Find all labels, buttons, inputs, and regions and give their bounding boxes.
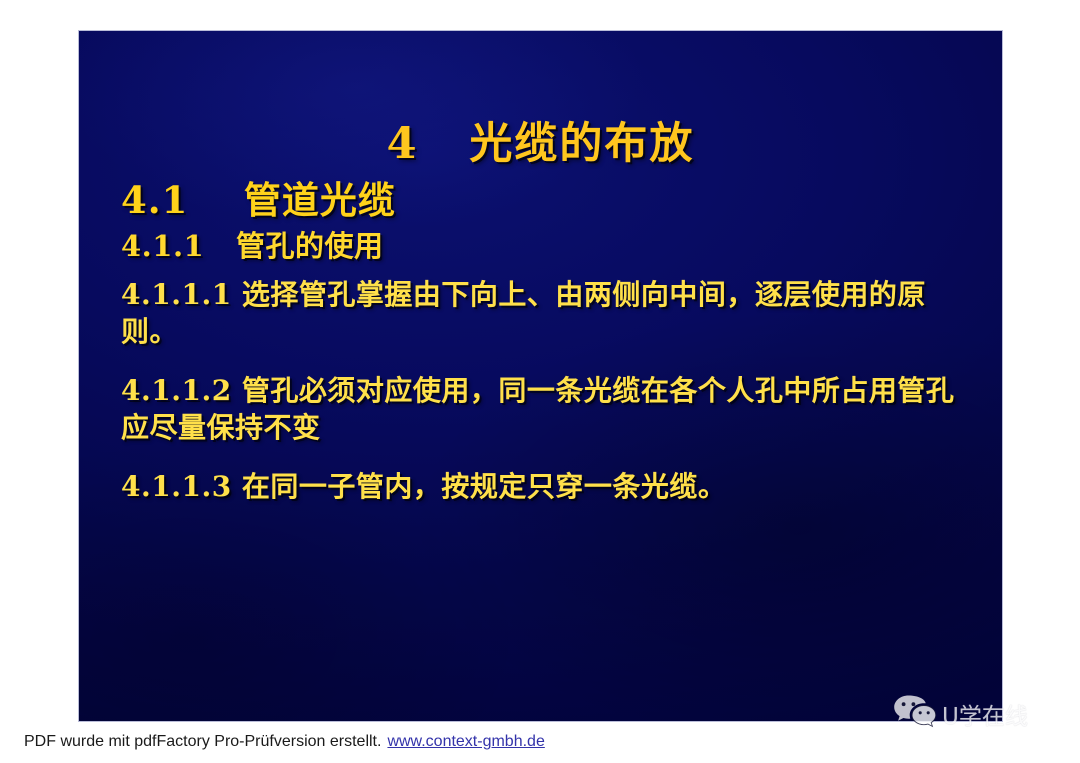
slide-body: 4.1 管道光缆 4.1.1 管孔的使用 4.1.1.1 选择管孔掌握由下向上、… — [121, 179, 976, 520]
section-heading-4-1: 4.1 管道光缆 — [121, 179, 976, 223]
paragraph-4-1-1-3: 4.1.1.3 在同一子管内，按规定只穿一条光缆。 — [121, 469, 976, 506]
paragraph-4-1-1-1: 4.1.1.1 选择管孔掌握由下向上、由两侧向中间，逐层使用的原则。 — [121, 277, 976, 351]
pdf-footer-notice: PDF wurde mit pdfFactory Pro-Prüfversion… — [24, 733, 545, 751]
slide-title: 4 光缆的布放 — [79, 109, 1002, 171]
presentation-slide: 4 光缆的布放 4.1 管道光缆 4.1.1 管孔的使用 4.1.1.1 选择管… — [78, 30, 1003, 722]
paragraph-4-1-1-2: 4.1.1.2 管孔必须对应使用，同一条光缆在各个人孔中所占用管孔应尽量保持不变 — [121, 373, 976, 447]
footer-notice-text: PDF wurde mit pdfFactory Pro-Prüfversion… — [24, 733, 381, 751]
footer-link[interactable]: www.context-gmbh.de — [387, 733, 544, 751]
subsection-heading-4-1-1: 4.1.1 管孔的使用 — [121, 229, 976, 264]
